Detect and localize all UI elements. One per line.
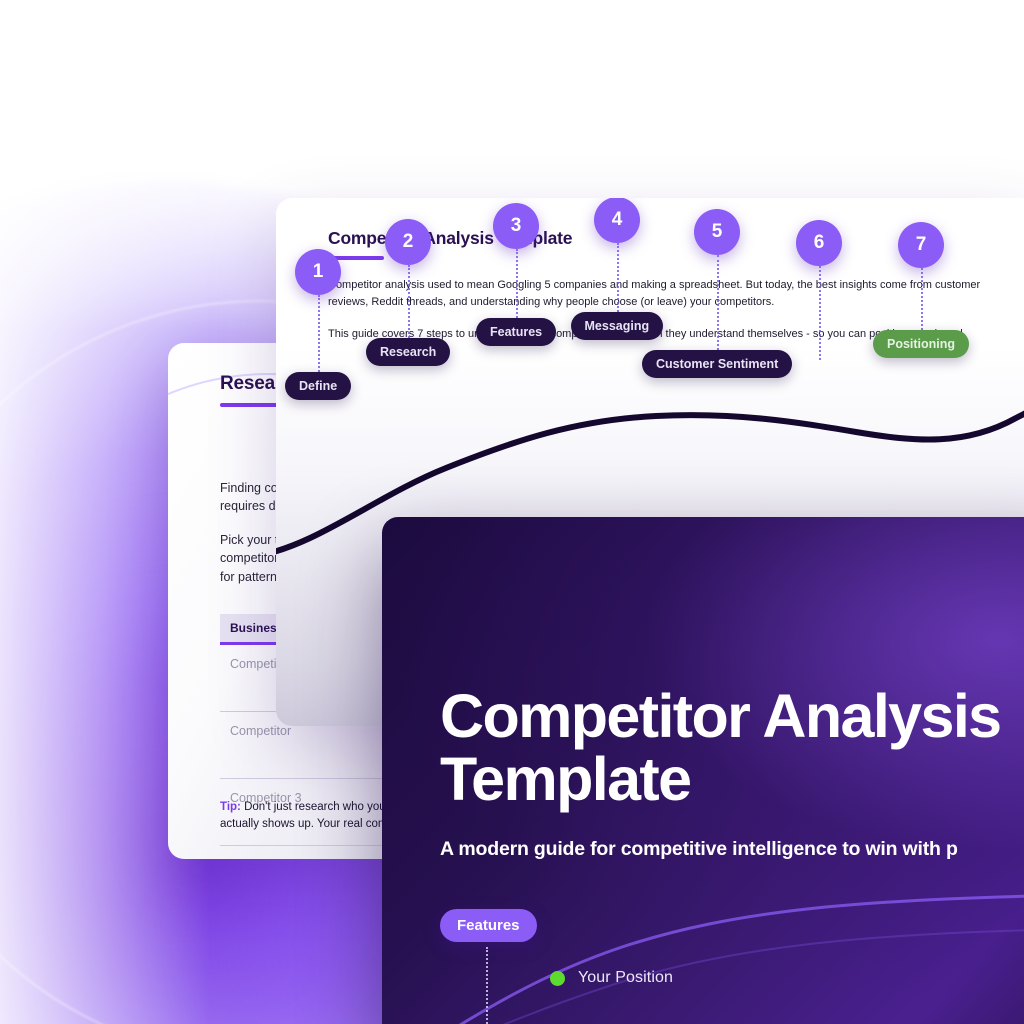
chart-annotation-stem xyxy=(486,947,488,1024)
timeline-node-number: 3 xyxy=(511,215,522,237)
timeline-node-6[interactable]: 6 xyxy=(796,220,842,266)
timeline-pill-define[interactable]: Define xyxy=(285,372,351,400)
timeline-stem-4 xyxy=(617,243,619,312)
timeline-stem-1 xyxy=(318,295,320,372)
legend-item-your-position: Your Position xyxy=(550,969,673,987)
timeline-stem-3 xyxy=(516,249,518,318)
research-card-tip-text: Don't just research who you thi actually… xyxy=(220,801,401,830)
timeline-intro-paragraph-1: Competitor analysis used to mean Googlin… xyxy=(328,277,984,311)
hero-card[interactable]: Competitor Analysis Template A modern gu… xyxy=(382,517,1024,1024)
timeline-node-1[interactable]: 1 xyxy=(295,249,341,295)
timeline-stem-2 xyxy=(408,265,410,338)
timeline-node-number: 4 xyxy=(612,209,623,231)
timeline-stem-6 xyxy=(819,266,821,360)
timeline-node-3[interactable]: 3 xyxy=(493,203,539,249)
timeline-stem-5 xyxy=(717,255,719,350)
timeline-node-7[interactable]: 7 xyxy=(898,222,944,268)
legend-label: Your Position xyxy=(578,969,673,987)
research-card-tip-label: Tip: xyxy=(220,801,241,813)
timeline-pill-messaging[interactable]: Messaging xyxy=(571,312,664,340)
chart-legend: Your Position Brand B Brand A xyxy=(550,969,673,1024)
legend-dot-icon xyxy=(550,971,565,986)
timeline-pill-customer-sentiment[interactable]: Customer Sentiment xyxy=(642,350,792,378)
timeline-node-5[interactable]: 5 xyxy=(694,209,740,255)
hero-subtitle: A modern guide for competitive intellige… xyxy=(440,838,1024,861)
timeline-node-number: 1 xyxy=(313,261,324,283)
chart-annotation-features[interactable]: Features xyxy=(440,909,537,942)
hero-chart: Features Your Position Brand B Brand A xyxy=(382,889,1024,1024)
timeline-node-4[interactable]: 4 xyxy=(594,198,640,243)
timeline-stem-7 xyxy=(921,268,923,330)
hero-title: Competitor Analysis Template xyxy=(440,685,1024,812)
timeline-node-number: 5 xyxy=(712,221,723,243)
timeline-node-number: 6 xyxy=(814,232,825,254)
timeline-pill-positioning[interactable]: Positioning xyxy=(873,330,969,358)
timeline-node-number: 7 xyxy=(916,234,927,256)
timeline-pill-features[interactable]: Features xyxy=(476,318,556,346)
timeline-node-2[interactable]: 2 xyxy=(385,219,431,265)
timeline-node-number: 2 xyxy=(403,231,414,253)
screenshot-canvas: Research Finding comp requires digg Pick… xyxy=(0,0,1024,1024)
timeline-pill-research[interactable]: Research xyxy=(366,338,450,366)
